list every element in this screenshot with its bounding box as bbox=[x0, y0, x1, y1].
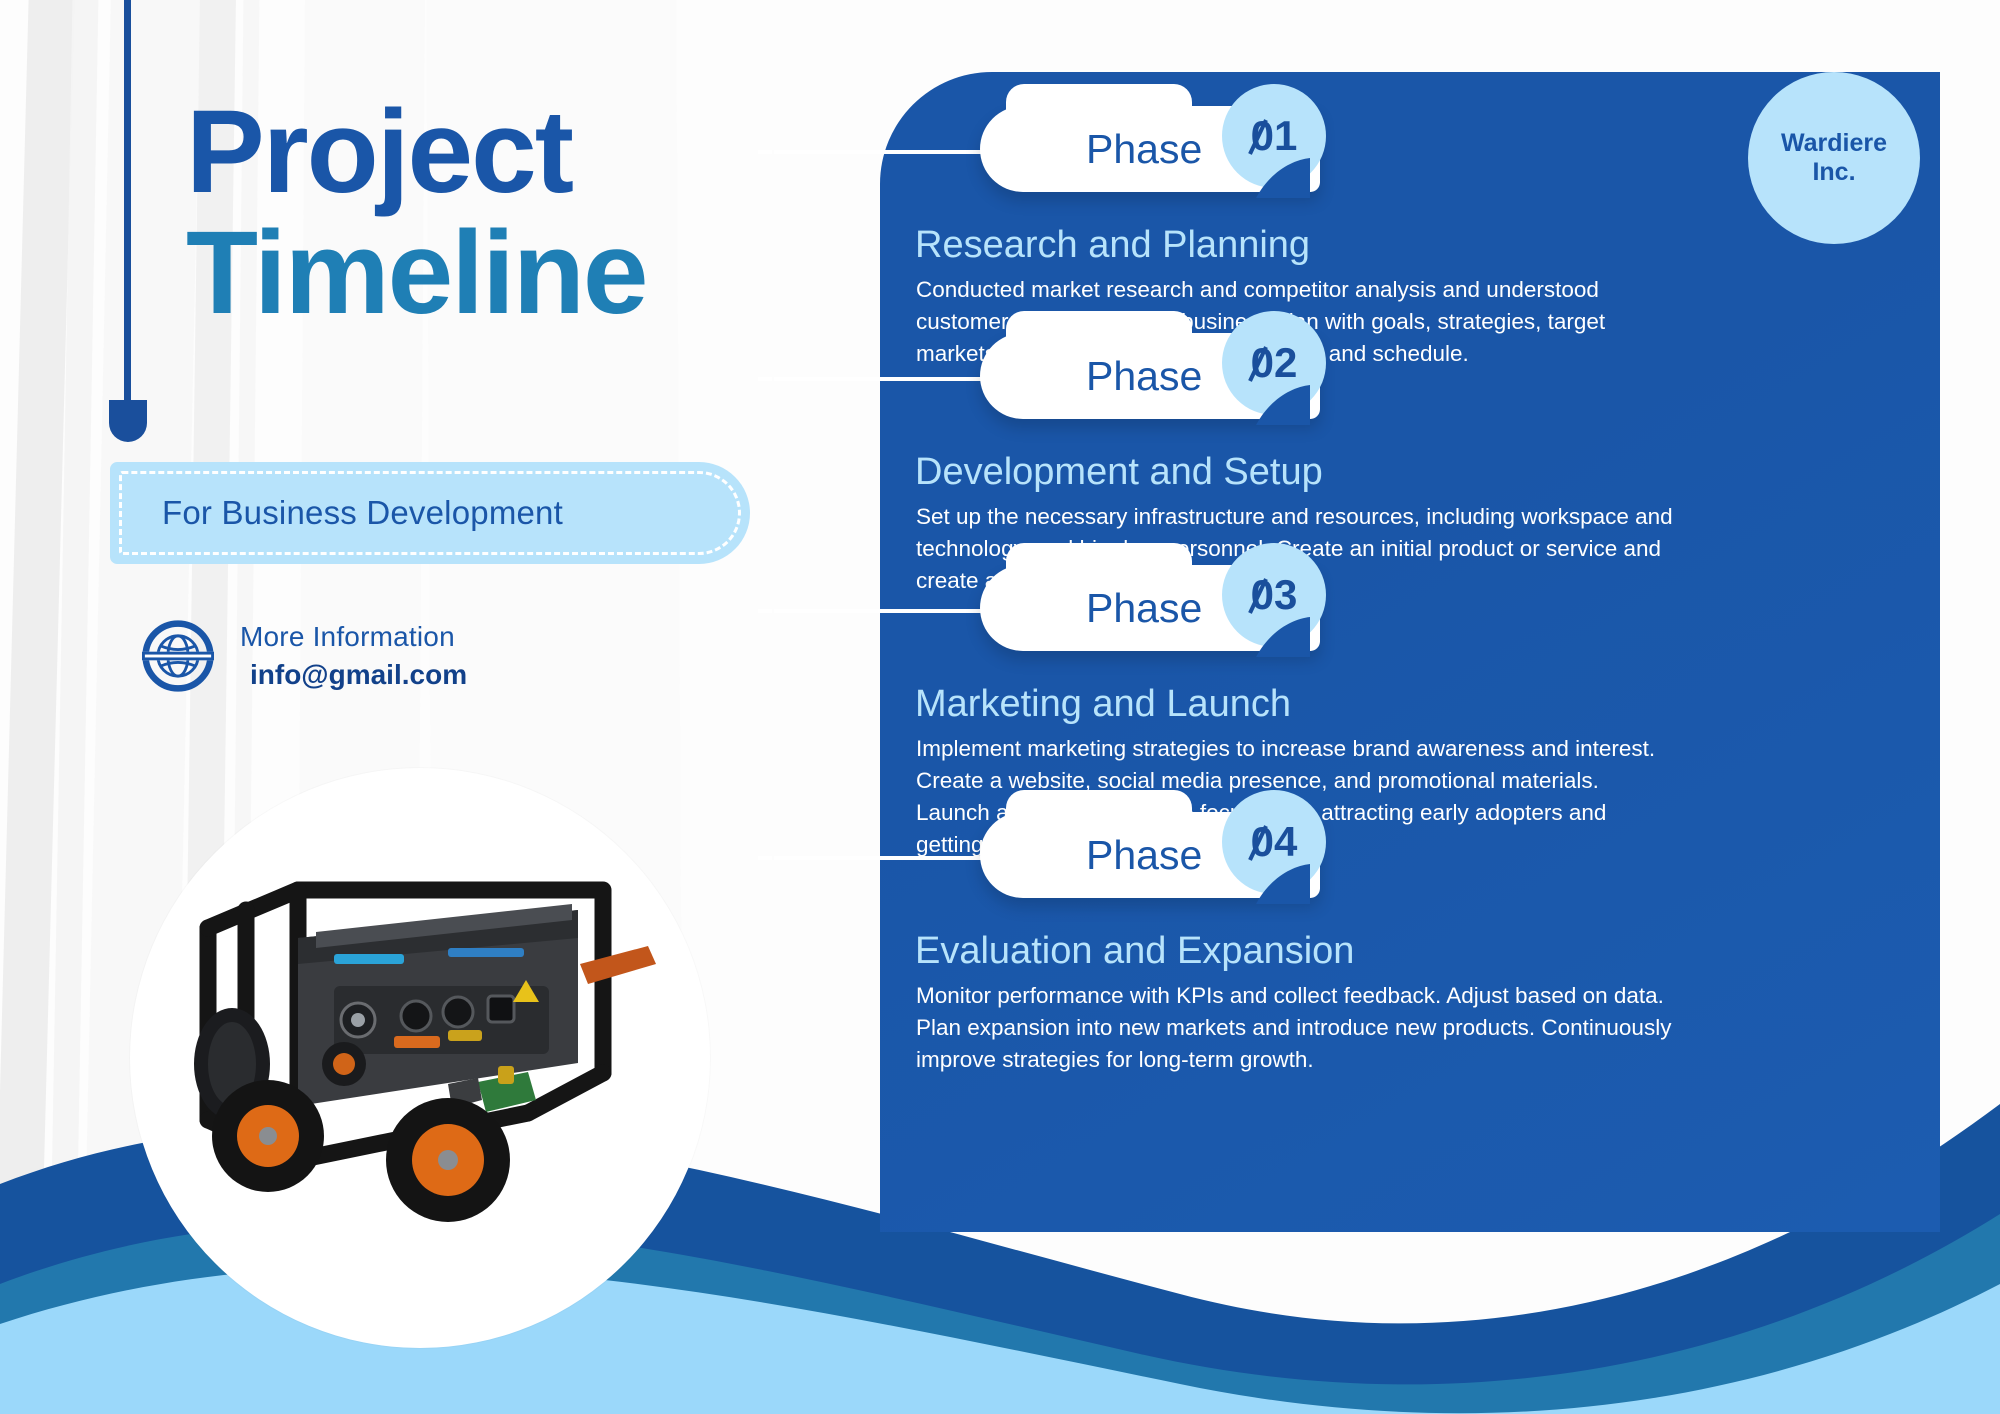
subtitle-text: For Business Development bbox=[162, 494, 563, 532]
connector-dash-03 bbox=[758, 609, 772, 613]
connector-line-01 bbox=[774, 150, 994, 154]
contact-block: More Information info@gmail.com bbox=[142, 620, 467, 692]
phase-label-01: Phase bbox=[1086, 126, 1202, 173]
generator-illustration bbox=[148, 868, 693, 1228]
product-image-circle bbox=[130, 768, 710, 1348]
subtitle-banner: For Business Development bbox=[110, 462, 750, 564]
badge-fold-04 bbox=[1252, 864, 1310, 904]
phase-item-04[interactable]: Phase 04 Evaluation and Expansion Monito… bbox=[880, 812, 1940, 904]
title-line-2: Timeline bbox=[186, 217, 906, 330]
phase-body-04: Monitor performance with KPIs and collec… bbox=[916, 980, 1676, 1076]
badge-tab-03 bbox=[1006, 543, 1192, 589]
phase-heading-01: Research and Planning bbox=[915, 224, 1310, 267]
phase-item-01[interactable]: Phase 01 Research and Planning Conducted… bbox=[880, 106, 1940, 198]
phase-heading-02: Development and Setup bbox=[915, 451, 1323, 494]
contact-email[interactable]: info@gmail.com bbox=[250, 659, 467, 691]
globe-icon bbox=[142, 620, 214, 692]
infographic-poster: Project Timeline For Business Developmen… bbox=[0, 0, 2000, 1414]
badge-fold-01 bbox=[1252, 158, 1310, 198]
badge-tab-02 bbox=[1006, 311, 1192, 357]
phase-label-04: Phase bbox=[1086, 832, 1202, 879]
phase-item-03[interactable]: Phase 03 Marketing and Launch Implement … bbox=[880, 565, 1940, 657]
contact-label: More Information bbox=[240, 621, 467, 653]
phase-label-03: Phase bbox=[1086, 585, 1202, 632]
phase-label-02: Phase bbox=[1086, 353, 1202, 400]
connector-dash-01 bbox=[758, 150, 772, 154]
connector-dash-02 bbox=[758, 377, 772, 381]
badge-fold-03 bbox=[1252, 617, 1310, 657]
decorative-pin-dot bbox=[109, 400, 147, 442]
decorative-pin-line bbox=[124, 0, 131, 400]
connector-line-04 bbox=[774, 856, 994, 860]
badge-tab-01 bbox=[1006, 84, 1192, 130]
connector-dash-04 bbox=[758, 856, 772, 860]
page-title: Project Timeline bbox=[186, 96, 906, 331]
phase-item-02[interactable]: Phase 02 Development and Setup Set up th… bbox=[880, 333, 1940, 425]
connector-line-02 bbox=[774, 377, 994, 381]
badge-fold-02 bbox=[1252, 385, 1310, 425]
badge-tab-04 bbox=[1006, 790, 1192, 836]
phase-heading-04: Evaluation and Expansion bbox=[915, 930, 1354, 973]
phase-heading-03: Marketing and Launch bbox=[915, 683, 1291, 726]
connector-line-03 bbox=[774, 609, 994, 613]
